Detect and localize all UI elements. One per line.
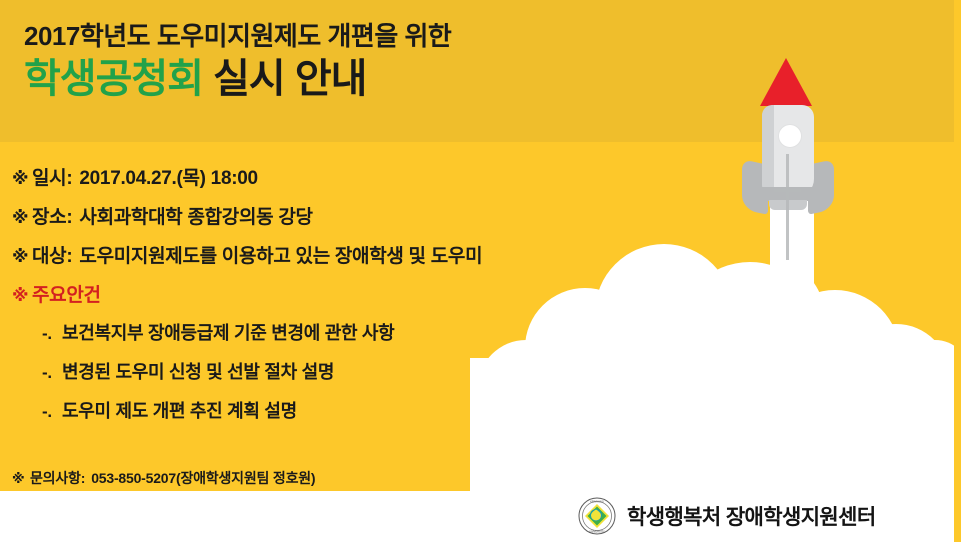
- poster-headline: 2017학년도 도우미지원제도 개편을 위한 학생공청회 실시 안내: [24, 22, 724, 100]
- cloud-puff: [900, 340, 961, 410]
- reference-mark-icon: ※: [12, 208, 32, 228]
- rocket-exhaust-flare: [758, 270, 826, 380]
- reference-mark-icon: ※: [12, 471, 30, 487]
- footer-organization-name: 학생행복처 장애학생지원센터: [627, 501, 876, 531]
- headline-emphasis: 학생공청회: [24, 57, 203, 101]
- rocket-nose-cone: [760, 58, 812, 106]
- dash-bullet-icon: -.: [42, 324, 62, 344]
- headline-remainder: 실시 안내: [203, 57, 366, 101]
- svg-text:KEIMYUNG: KEIMYUNG: [590, 500, 604, 504]
- agenda-item: -. 변경된 도우미 신청 및 선발 절차 설명: [12, 358, 692, 397]
- poster-details: ※ 일시: 2017.04.27.(목) 18:00 ※ 장소: 사회과학대학 …: [12, 163, 692, 436]
- footer-branding: KEIMYUNG UNIVERSITY 학생행복처 장애학생지원센터: [578, 497, 876, 535]
- contact-label: 문의사항:: [30, 468, 85, 488]
- detail-value: 도우미지원제도를 이용하고 있는 장애학생 및 도우미: [79, 241, 482, 268]
- contact-line: ※ 문의사항: 053-850-5207 (장애학생지원팀 정호원): [12, 468, 315, 488]
- headline-line-1: 2017학년도 도우미지원제도 개편을 위한: [24, 22, 724, 51]
- reference-mark-icon: ※: [12, 286, 32, 306]
- agenda-heading: 주요안건: [32, 280, 101, 307]
- detail-row-audience: ※ 대상: 도우미지원제도를 이용하고 있는 장애학생 및 도우미: [12, 241, 692, 280]
- university-seal-icon: KEIMYUNG UNIVERSITY: [578, 497, 616, 535]
- detail-row-date: ※ 일시: 2017.04.27.(목) 18:00: [12, 163, 692, 202]
- rocket-streak-cross: [774, 189, 801, 192]
- detail-value: 사회과학대학 종합강의동 강당: [79, 202, 312, 229]
- rocket-window: [778, 124, 802, 148]
- detail-row-place: ※ 장소: 사회과학대학 종합강의동 강당: [12, 202, 692, 241]
- contact-person: (장애학생지원팀 정호원): [176, 468, 315, 488]
- agenda-item-text: 도우미 제도 개편 추진 계획 설명: [62, 397, 297, 423]
- reference-mark-icon: ※: [12, 247, 32, 267]
- dash-bullet-icon: -.: [42, 402, 62, 422]
- right-edge-strip: [954, 0, 961, 542]
- agenda-item-text: 보건복지부 장애등급제 기준 변경에 관한 사항: [62, 319, 394, 345]
- detail-label: 일시:: [32, 163, 72, 190]
- detail-value: 2017.04.27.(목) 18:00: [79, 163, 257, 190]
- dash-bullet-icon: -.: [42, 363, 62, 383]
- rocket-streak: [786, 154, 789, 260]
- headline-line-2: 학생공청회 실시 안내: [24, 58, 724, 100]
- detail-label: 장소:: [32, 202, 72, 229]
- agenda-item: -. 보건복지부 장애등급제 기준 변경에 관한 사항: [12, 319, 692, 358]
- detail-row-agenda-heading: ※ 주요안건: [12, 280, 692, 319]
- contact-phone: 053-850-5207: [91, 470, 176, 486]
- detail-label: 대상:: [32, 241, 72, 268]
- agenda-item: -. 도우미 제도 개편 추진 계획 설명: [12, 397, 692, 436]
- rocket-body-shade: [762, 105, 774, 197]
- reference-mark-icon: ※: [12, 169, 32, 189]
- agenda-item-text: 변경된 도우미 신청 및 선발 절차 설명: [62, 358, 334, 384]
- svg-text:UNIVERSITY: UNIVERSITY: [589, 529, 605, 533]
- poster-canvas: 2017학년도 도우미지원제도 개편을 위한 학생공청회 실시 안내 ※ 일시:…: [0, 0, 961, 542]
